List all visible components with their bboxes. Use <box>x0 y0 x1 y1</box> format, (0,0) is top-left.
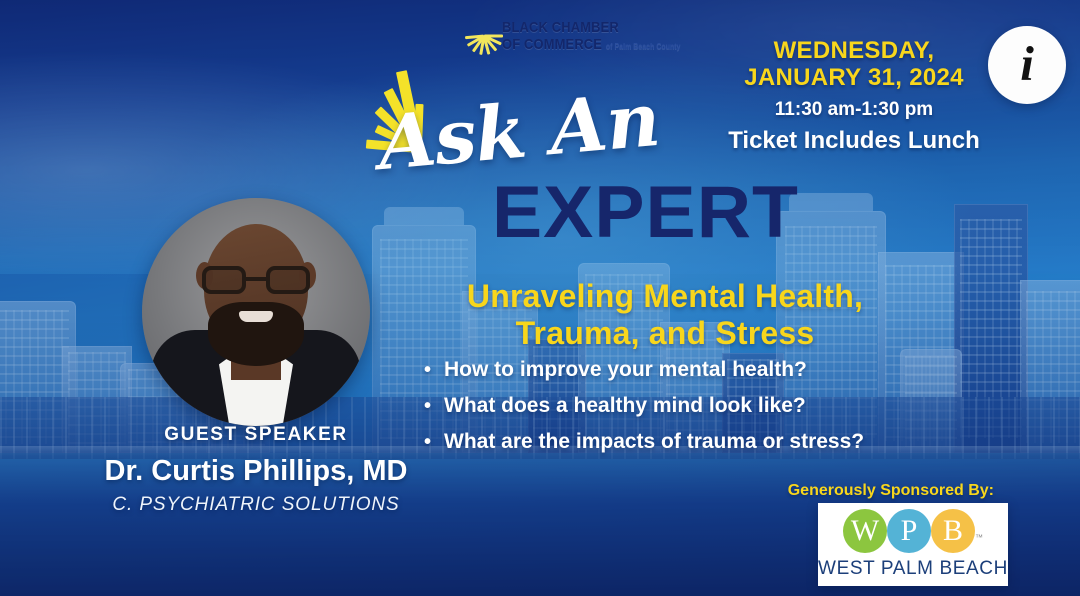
sponsor-label: Generously Sponsored By: <box>788 482 994 500</box>
subtitle-line-1: Unraveling Mental Health, <box>400 278 930 315</box>
event-day: WEDNESDAY, <box>704 38 1004 65</box>
event-flyer: BLACK CHAMBER OF COMMERCE of Palm Beach … <box>0 0 1080 596</box>
chamber-logo-line2: OF COMMERCE <box>502 36 602 53</box>
topic-list: • How to improve your mental health? • W… <box>424 358 944 466</box>
chamber-logo-suffix: of Palm Beach County <box>606 42 681 51</box>
info-icon[interactable]: i <box>988 26 1066 104</box>
subtitle-line-2: Trauma, and Stress <box>400 315 930 352</box>
wpb-letter-w: W <box>843 509 887 553</box>
bullet-icon: • <box>424 432 444 452</box>
wpb-circles-icon: W P B ™ <box>837 509 989 553</box>
list-item: • What are the impacts of trauma or stre… <box>424 430 944 454</box>
wpb-letter-b: B <box>931 509 975 553</box>
eyeglasses-icon <box>202 266 310 294</box>
event-subtitle: Unraveling Mental Health, Trauma, and St… <box>400 278 930 353</box>
bullet-icon: • <box>424 360 444 380</box>
chamber-logo-line1: BLACK CHAMBER <box>502 20 681 35</box>
list-item: • How to improve your mental health? <box>424 358 944 382</box>
info-glyph: i <box>1020 39 1034 88</box>
chamber-logo: BLACK CHAMBER OF COMMERCE of Palm Beach … <box>462 12 662 60</box>
sponsor-logo-wpb: W P B ™ WEST PALM BEACH <box>818 503 1008 586</box>
event-date: JANUARY 31, 2024 <box>704 65 1004 92</box>
bullet-icon: • <box>424 396 444 416</box>
list-item-label: What are the impacts of trauma or stress… <box>444 430 864 454</box>
event-time: 11:30 am-1:30 pm <box>704 99 1004 121</box>
list-item-label: What does a healthy mind look like? <box>444 394 806 418</box>
speaker-organization: C. PSYCHIATRIC SOLUTIONS <box>96 494 416 516</box>
avatar <box>142 198 370 426</box>
sponsor-name: WEST PALM BEACH <box>818 558 1008 580</box>
title-script: Ask An <box>375 83 662 181</box>
speaker-name: Dr. Curtis Phillips, MD <box>96 455 416 488</box>
list-item: • What does a healthy mind look like? <box>424 394 944 418</box>
ticket-includes-lunch: Ticket Includes Lunch <box>704 127 1004 155</box>
event-date-block: WEDNESDAY, JANUARY 31, 2024 11:30 am-1:3… <box>704 38 1004 155</box>
list-item-label: How to improve your mental health? <box>444 358 807 382</box>
speaker-credit: GUEST SPEAKER Dr. Curtis Phillips, MD C.… <box>96 424 416 516</box>
wpb-letter-p: P <box>887 509 931 553</box>
title-main: EXPERT <box>492 178 799 248</box>
guest-speaker-label: GUEST SPEAKER <box>96 424 416 446</box>
trademark-symbol: ™ <box>975 533 983 542</box>
sunburst-icon <box>462 14 506 58</box>
